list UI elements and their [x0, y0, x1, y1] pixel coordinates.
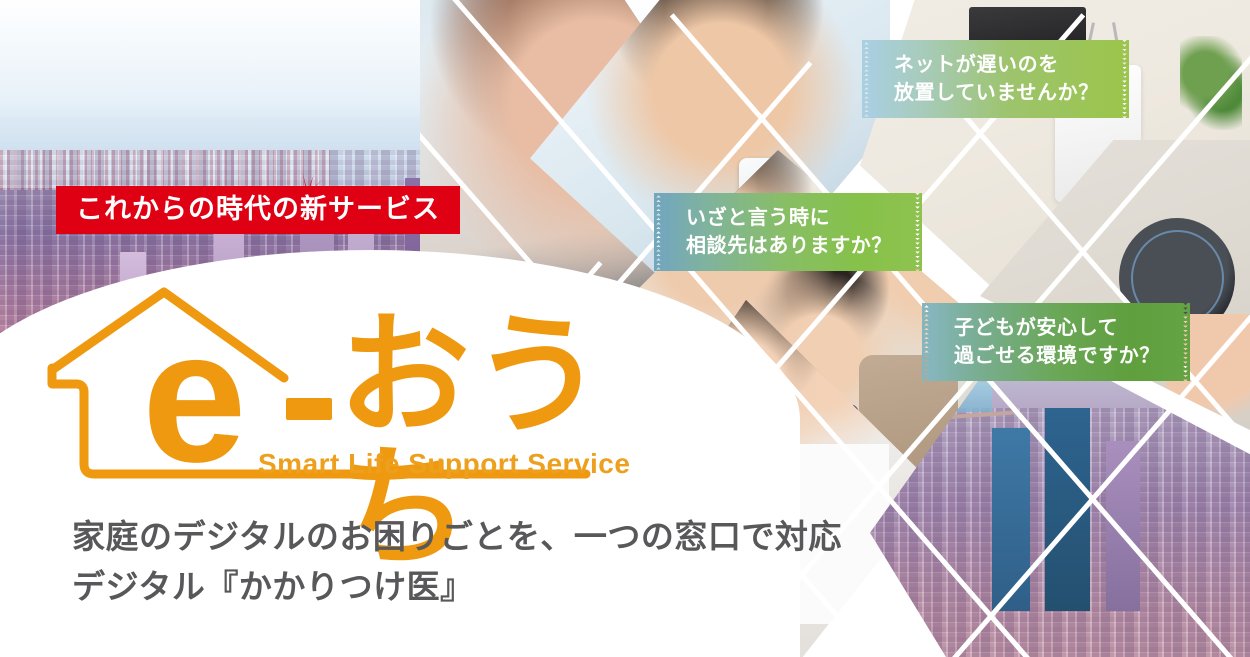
- promo-ribbon: これからの時代の新サービス: [56, 186, 460, 234]
- promo-ribbon-text: これからの時代の新サービス: [76, 194, 440, 224]
- badge-child-safety-line1: 子どもが安心して: [954, 313, 1160, 341]
- badge-network-slow-line2: 放置していませんか？: [894, 78, 1099, 106]
- hero-tagline: 家庭のデジタルのお困りごとを、一つの窓口で対応 デジタル『かかりつけ医』: [72, 512, 842, 612]
- badge-consultation: いざと言う時に 相談先はありますか？: [662, 193, 914, 271]
- badge-network-slow-line1: ネットが遅いのを: [894, 50, 1099, 78]
- badge-child-safety: 子どもが安心して 過ごせる環境ですか？: [930, 303, 1182, 381]
- logo-dash: [286, 398, 332, 420]
- hero-banner: これからの時代の新サービス e おうち Smart Life Support S…: [0, 0, 1250, 657]
- logo-letter-e: e: [142, 302, 247, 490]
- sparkle-icon: [286, 168, 326, 194]
- badge-child-safety-line2: 過ごせる環境ですか？: [954, 341, 1160, 369]
- badge-consultation-line2: 相談先はありますか？: [686, 231, 892, 259]
- badge-consultation-line1: いざと言う時に: [686, 203, 892, 231]
- badge-network-slow: ネットが遅いのを 放置していませんか？: [870, 40, 1121, 118]
- logo-tagline-en: Smart Life Support Service: [258, 448, 630, 480]
- hero-tagline-line1: 家庭のデジタルのお困りごとを、一つの窓口で対応: [72, 512, 842, 562]
- hero-tagline-line2: デジタル『かかりつけ医』: [72, 562, 842, 612]
